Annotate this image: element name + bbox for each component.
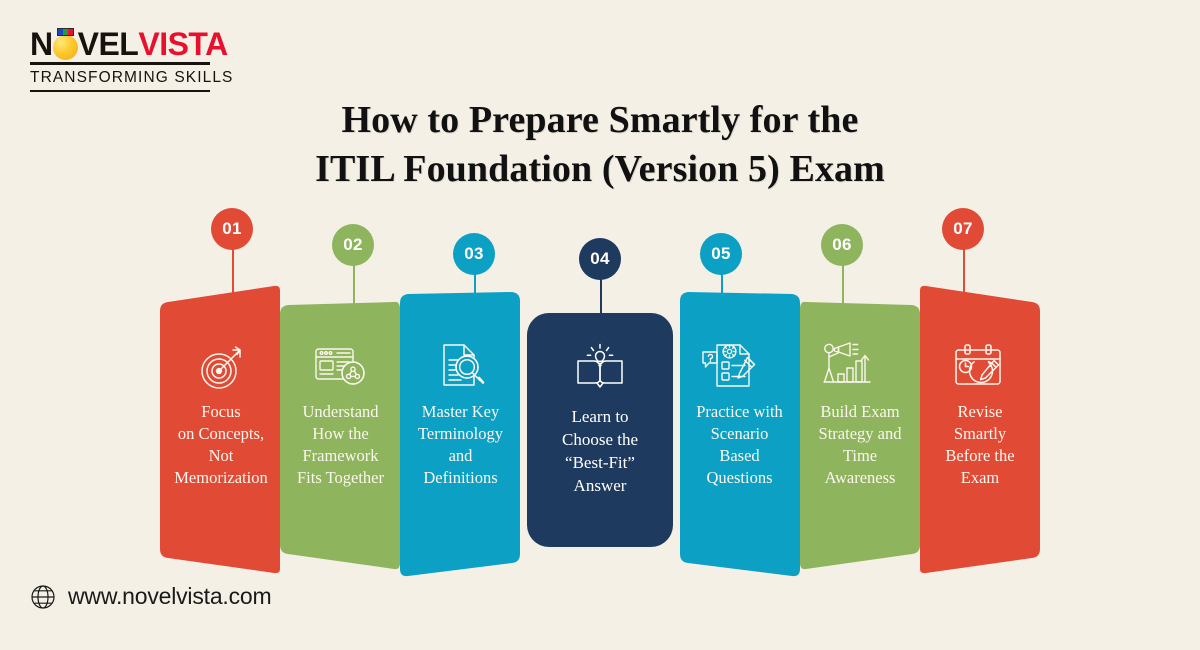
step-badge-3[interactable]: 03 <box>453 233 495 275</box>
step-panel-5[interactable] <box>680 292 800 576</box>
step-badge-5[interactable]: 05 <box>700 233 742 275</box>
step-panel-7[interactable] <box>920 286 1040 573</box>
step-badge-7[interactable]: 07 <box>942 208 984 250</box>
step-badge-6-label: 06 <box>832 235 852 255</box>
person-megaphone-barchart-icon <box>818 340 876 390</box>
step-badge-1-label: 01 <box>222 219 242 239</box>
step-panel-3[interactable] <box>400 292 520 576</box>
step-badge-6[interactable]: 06 <box>821 224 863 266</box>
document-magnifier-icon <box>436 342 488 392</box>
open-book-lightbulb-icon <box>572 340 628 392</box>
steps-ribbon <box>0 0 1200 650</box>
step-badge-7-label: 07 <box>953 219 973 239</box>
step-badge-4-label: 04 <box>590 249 610 269</box>
step-badge-1[interactable]: 01 <box>211 208 253 250</box>
step-panel-2[interactable] <box>280 302 400 569</box>
step-badge-4[interactable]: 04 <box>579 238 621 280</box>
webpage-network-icon <box>313 345 369 391</box>
step-badge-2[interactable]: 02 <box>332 224 374 266</box>
checklist-question-pencil-icon <box>700 340 760 392</box>
step-badge-3-label: 03 <box>464 244 484 264</box>
target-arrow-icon <box>195 343 249 391</box>
step-badge-2-label: 02 <box>343 235 363 255</box>
step-panel-1[interactable] <box>160 286 280 573</box>
step-badge-5-label: 05 <box>711 244 731 264</box>
calendar-clock-refresh-icon <box>952 341 1006 391</box>
